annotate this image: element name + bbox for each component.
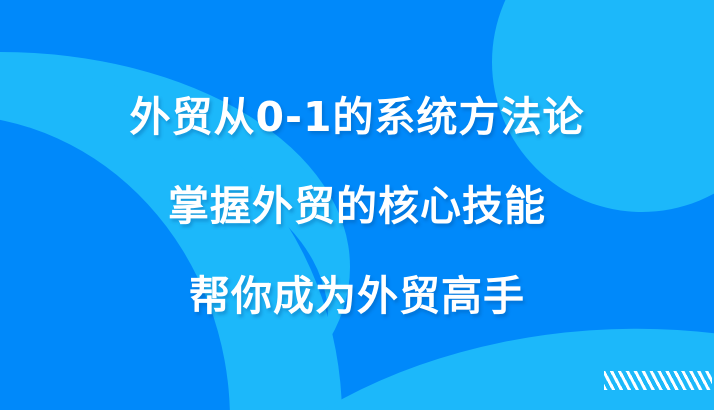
headline-line-2: 掌握外贸的核心技能: [168, 185, 546, 228]
headline-line-1: 外贸从0-1的系统方法论: [129, 96, 584, 139]
promo-banner: 外贸从0-1的系统方法论 掌握外贸的核心技能 帮你成为外贸高手: [0, 0, 714, 410]
headline-line-3: 帮你成为外贸高手: [189, 275, 525, 318]
headline-block: 外贸从0-1的系统方法论 掌握外贸的核心技能 帮你成为外贸高手: [0, 0, 714, 410]
